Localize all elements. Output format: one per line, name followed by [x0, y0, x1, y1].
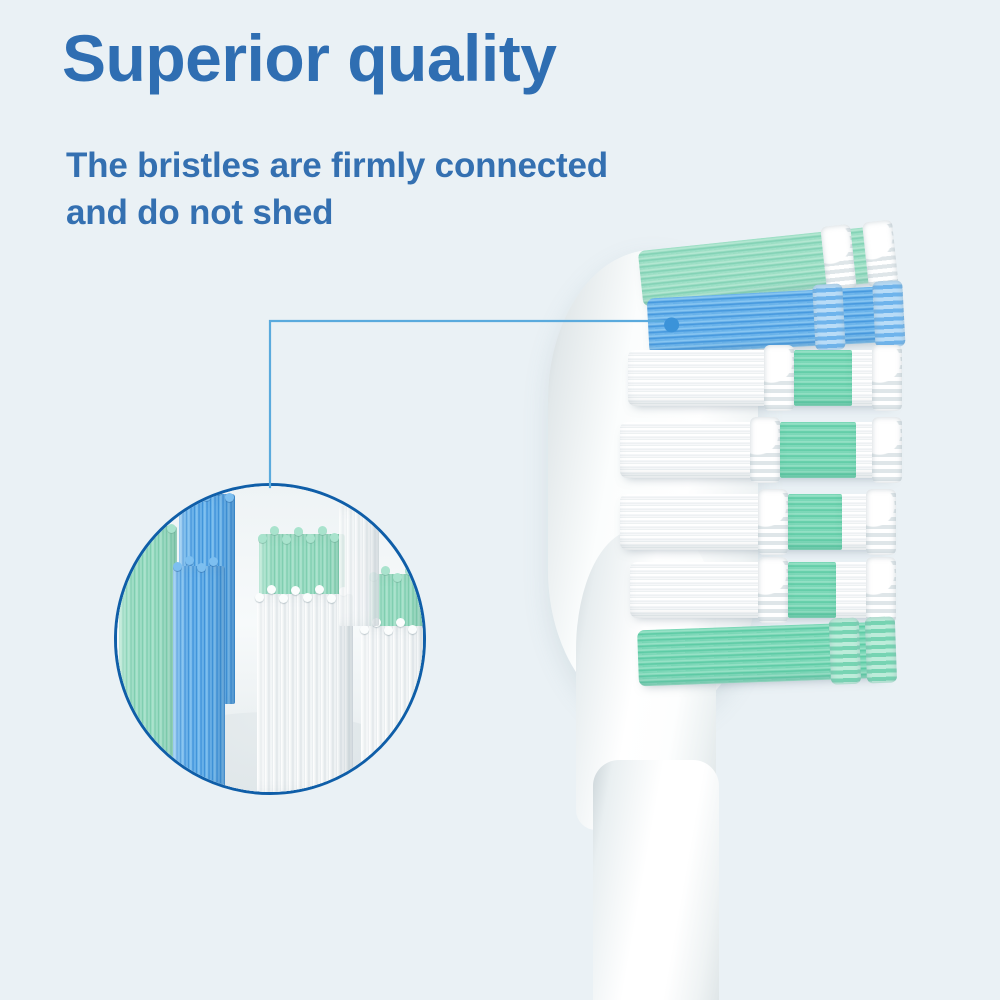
bristle-tips — [812, 283, 845, 350]
page-title: Superior quality — [62, 22, 556, 96]
toothbrush-illustration — [520, 200, 960, 1000]
bristle-tips — [872, 280, 905, 347]
bristle-mint-segment — [780, 422, 856, 478]
tuft-white-right — [361, 626, 426, 791]
tuft-green-left — [119, 526, 177, 761]
bristle-tips — [758, 489, 788, 555]
bristle-tips — [865, 616, 897, 683]
bristle-row-white-2 — [620, 422, 898, 478]
bristle-tips — [862, 219, 899, 288]
bristle-mint-segment — [788, 494, 842, 550]
bristle-tips — [866, 557, 896, 623]
bristle-mint-segment — [788, 562, 836, 618]
bristle-mint-segment — [794, 350, 852, 406]
bristle-strands — [361, 626, 426, 791]
bristle-tips — [829, 618, 861, 685]
bristle-closeup-magnifier — [114, 483, 426, 795]
bristle-strands — [628, 350, 898, 406]
magnifier-backdrop — [117, 486, 423, 792]
bristle-row-white-4 — [630, 562, 892, 618]
bristle-strands — [119, 526, 177, 761]
bristle-tips — [177, 484, 237, 510]
bristle-strands — [173, 566, 225, 788]
bristle-strands — [339, 506, 379, 626]
bristle-tips — [866, 489, 896, 555]
bristle-strands — [620, 494, 892, 550]
bristle-row-mint-bottom — [637, 622, 891, 687]
bristle-tips — [764, 345, 794, 411]
product-feature-slide: Superior quality The bristles are firmly… — [0, 0, 1000, 1000]
bristle-tips — [256, 524, 349, 550]
bristle-tips — [758, 557, 788, 623]
bristle-tips — [872, 345, 902, 411]
bristle-tips — [872, 417, 902, 483]
tuft-white-back — [339, 506, 379, 626]
bristle-row-white-3 — [620, 494, 892, 550]
bristle-tips — [171, 556, 227, 582]
bristle-row-white-1 — [628, 350, 898, 406]
brush-handle — [593, 760, 719, 1000]
bristle-tips — [750, 417, 780, 483]
tuft-blue-front — [173, 566, 225, 788]
bristle-tips — [117, 516, 180, 542]
